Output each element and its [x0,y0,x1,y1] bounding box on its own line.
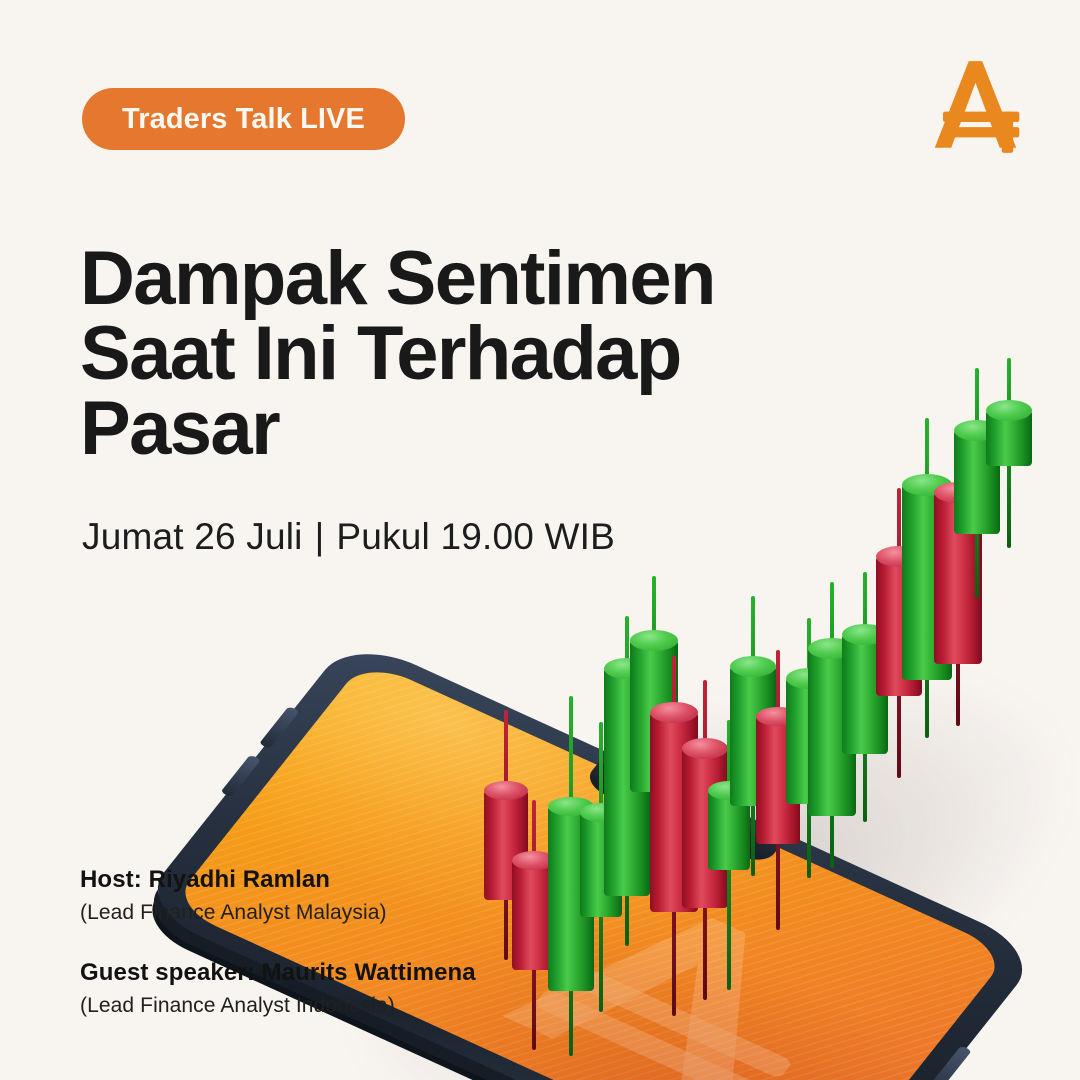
headline-line-2: Saat Ini Terhadap [80,316,840,391]
session-time: Pukul 19.00 WIB [336,516,615,557]
host-role: (Lead Finance Analyst Malaysia) [80,901,700,925]
live-session-badge: Traders Talk LIVE [82,88,405,150]
host-name: Host: Riyadhi Ramlan [80,866,700,894]
poster-content: Traders Talk LIVE Dampak Sentimen Saat I… [0,0,1080,1080]
poster-canvas: Traders Talk LIVE Dampak Sentimen Saat I… [0,0,1080,1080]
headline-line-1: Dampak Sentimen [80,241,840,316]
guest-name: Guest speaker: Maurits Wattimena [80,959,700,987]
host-credit: Host: Riyadhi Ramlan (Lead Finance Analy… [80,866,700,925]
headline-line-3: Pasar [80,391,840,466]
session-datetime: Jumat 26 Juli|Pukul 19.00 WIB [82,516,615,558]
datetime-separator: | [315,516,325,558]
guest-credit: Guest speaker: Maurits Wattimena (Lead F… [80,959,700,1018]
speaker-credits: Host: Riyadhi Ramlan (Lead Finance Analy… [80,866,700,1018]
guest-role: (Lead Finance Analyst Indonesia) [80,994,700,1018]
page-title: Dampak Sentimen Saat Ini Terhadap Pasar [80,241,840,467]
session-date: Jumat 26 Juli [82,516,303,557]
octa-a-monogram-icon [924,58,1028,156]
